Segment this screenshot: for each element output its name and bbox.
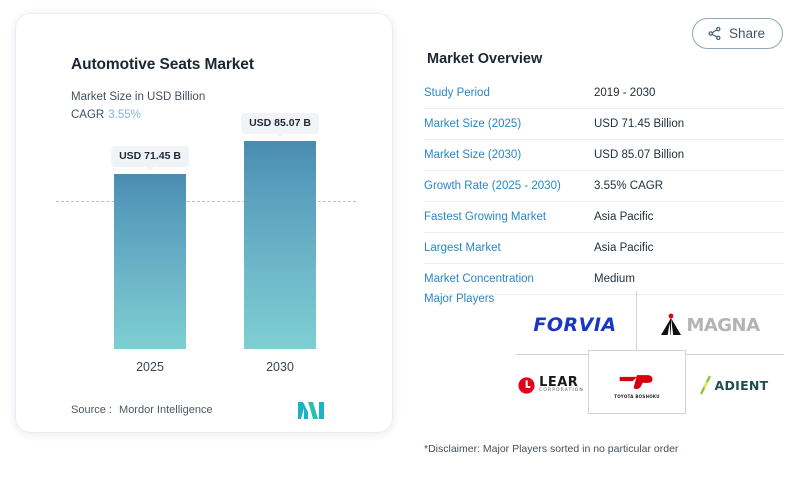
row-value-market-size-2025: USD 71.45 Billion [594,109,784,140]
cagr-row: CAGR3.55% [71,109,141,121]
chart-title: Automotive Seats Market [71,56,254,74]
row-value-fastest-growing-market: Asia Pacific [594,202,784,233]
adient-logo: ADIENT [688,363,780,407]
row-key-market-size-2030: Market Size (2030) [424,140,594,171]
players-disclaimer: *Disclaimer: Major Players sorted in no … [424,443,678,455]
adient-slash-icon [699,374,712,396]
grid-divider-vertical [636,291,637,354]
bar-2030[interactable] [244,141,316,349]
x-tick-2030: 2030 [244,360,316,374]
lear-corporation-logo: LEAR CORPORATION [516,363,586,407]
row-key-study-period: Study Period [424,78,594,109]
adient-logo-text: ADIENT [714,378,768,393]
table-row: Largest Market Asia Pacific [424,233,784,264]
major-players-logo-grid: FORVIA MAGNA LEAR CORPORATION [516,291,784,414]
row-value-study-period: 2019 - 2030 [594,78,784,109]
table-row: Study Period 2019 - 2030 [424,78,784,109]
row-key-largest-market: Largest Market [424,233,594,264]
share-nodes-icon [707,26,722,41]
row-key-fastest-growing-market: Fastest Growing Market [424,202,594,233]
chart-subtitle: Market Size in USD Billion [71,91,205,103]
toyota-boshoku-mark-icon [618,372,656,392]
lear-circle-icon [518,377,535,394]
magna-mountain-icon [660,313,682,337]
toyota-boshoku-logo-text: TOYOTA BOSHOKU [614,394,660,399]
magna-logo-text: MAGNA [686,315,759,336]
table-row: Market Concentration Medium [424,264,784,295]
bar-chart-plot: USD 71.45 B 2025 USD 85.07 B 2030 [56,139,356,374]
share-button[interactable]: Share [692,18,783,49]
market-overview-table: Study Period 2019 - 2030 Market Size (20… [424,78,784,295]
row-key-growth-rate: Growth Rate (2025 - 2030) [424,171,594,202]
cagr-value: 3.55% [108,109,141,121]
row-value-largest-market: Asia Pacific [594,233,784,264]
share-button-label: Share [729,26,765,41]
market-overview-title: Market Overview [427,51,542,67]
bar-2025[interactable] [114,174,186,349]
source-label: Source : [71,404,112,416]
source-row: Source : Mordor Intelligence [71,404,213,416]
row-value-market-concentration: Medium [594,264,784,295]
bar-value-label-2030: USD 85.07 B [241,113,319,134]
magna-logo: MAGNA [640,305,780,345]
chart-card: Automotive Seats Market Market Size in U… [16,14,392,432]
row-key-market-concentration: Market Concentration [424,264,594,295]
forvia-logo: FORVIA [516,305,634,345]
source-name: Mordor Intelligence [119,404,213,416]
lear-logo-subtext: CORPORATION [539,389,584,394]
market-summary-page: Automotive Seats Market Market Size in U… [0,0,800,482]
toyota-boshoku-logo: TOYOTA BOSHOKU [590,363,684,407]
table-row: Growth Rate (2025 - 2030) 3.55% CAGR [424,171,784,202]
forvia-logo-text: FORVIA [533,314,616,336]
row-value-growth-rate: 3.55% CAGR [594,171,784,202]
table-row: Fastest Growing Market Asia Pacific [424,202,784,233]
row-value-market-size-2030: USD 85.07 Billion [594,140,784,171]
cagr-label: CAGR [71,109,104,121]
bar-value-label-2025: USD 71.45 B [111,146,189,167]
x-tick-2025: 2025 [114,360,186,374]
table-row: Market Size (2030) USD 85.07 Billion [424,140,784,171]
row-key-market-size-2025: Market Size (2025) [424,109,594,140]
mordor-intelligence-logo [298,400,326,420]
table-row: Market Size (2025) USD 71.45 Billion [424,109,784,140]
major-players-label: Major Players [424,293,494,305]
